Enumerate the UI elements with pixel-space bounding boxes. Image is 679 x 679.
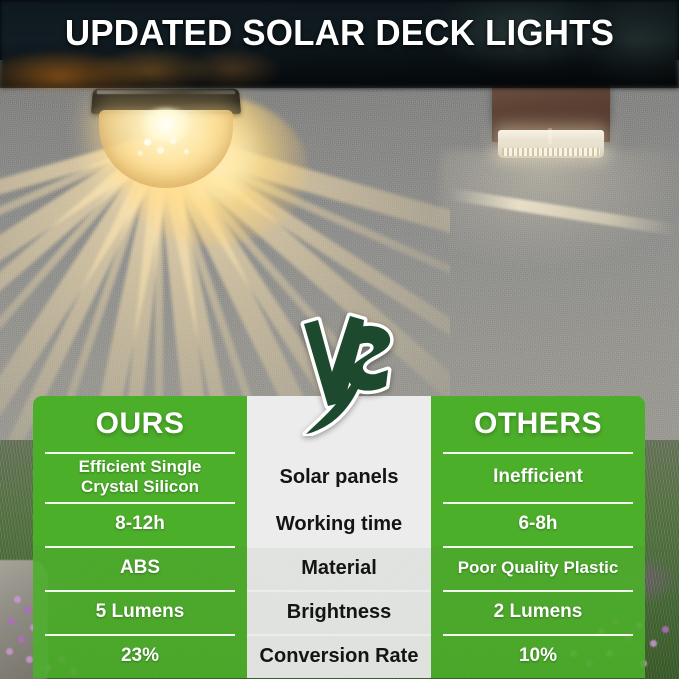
flower — [26, 656, 33, 663]
table-header-row: OURS OTHERS — [33, 396, 645, 452]
table-row: 23% Conversion Rate 10% — [33, 634, 645, 678]
led-hotspot — [138, 108, 194, 142]
cell-ours-working-time: 8-12h — [33, 502, 247, 546]
page-title: UPDATED SOLAR DECK LIGHTS — [10, 12, 669, 54]
competitor-deck-light — [492, 82, 610, 174]
cell-others-brightness: 2 Lumens — [431, 590, 645, 634]
flower — [18, 636, 25, 643]
column-header-others: OTHERS — [431, 396, 645, 452]
cell-ours-solar-panels-line2: Crystal Silicon — [81, 477, 199, 496]
cell-feature-solar-panels: Solar panels — [247, 452, 431, 502]
cell-others-working-time: 6-8h — [431, 502, 645, 546]
product-comparison-infographic: UPDATED SOLAR DECK LIGHTS OURS OTHERS — [0, 0, 679, 679]
flower — [662, 626, 669, 633]
column-header-feature — [247, 396, 431, 452]
table-row: ABS Material Poor Quality Plastic — [33, 546, 645, 590]
cell-feature-material: Material — [247, 546, 431, 590]
cell-ours-solar-panels-line1: Efficient Single — [79, 457, 202, 476]
flower — [8, 618, 15, 625]
cell-ours-solar-panels: Efficient Single Crystal Silicon — [33, 452, 247, 502]
cell-feature-conversion-rate: Conversion Rate — [247, 634, 431, 678]
cell-ours-material: ABS — [33, 546, 247, 590]
cell-ours-brightness: 5 Lumens — [33, 590, 247, 634]
table-row: 8-12h Working time 6-8h — [33, 502, 645, 546]
comparison-table: OURS OTHERS Efficient Single Crystal Sil… — [33, 396, 645, 679]
cell-feature-working-time: Working time — [247, 502, 431, 546]
flower — [6, 648, 13, 655]
flower — [24, 606, 31, 613]
flower — [650, 640, 657, 647]
table-row: 5 Lumens Brightness 2 Lumens — [33, 590, 645, 634]
ours-solar-deck-light — [92, 88, 240, 198]
cell-others-conversion-rate: 10% — [431, 634, 645, 678]
column-header-ours: OURS — [33, 396, 247, 452]
cell-feature-brightness: Brightness — [247, 590, 431, 634]
flower — [14, 596, 21, 603]
competitor-lens — [498, 130, 604, 158]
table-row: Efficient Single Crystal Silicon Solar p… — [33, 452, 645, 502]
cell-others-material: Poor Quality Plastic — [431, 546, 645, 590]
cell-others-solar-panels: Inefficient — [431, 452, 645, 502]
cell-ours-conversion-rate: 23% — [33, 634, 247, 678]
